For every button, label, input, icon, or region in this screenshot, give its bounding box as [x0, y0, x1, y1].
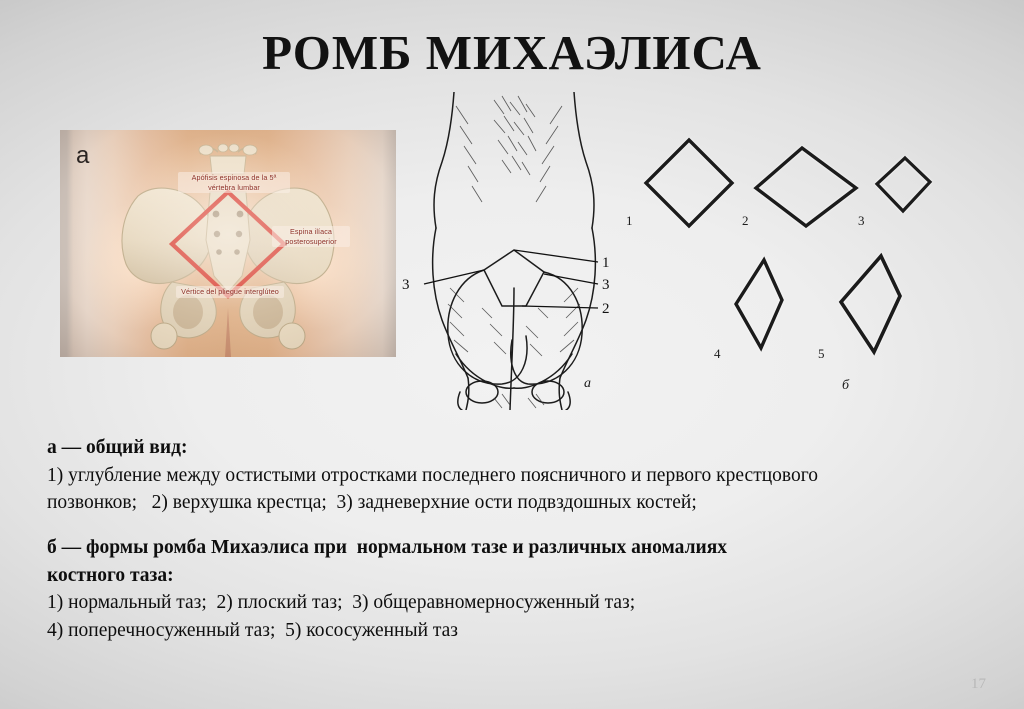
photo-panel-letter: a [76, 142, 89, 170]
label-intergluteal-fold-vertex: Vértice del pliegue interglúteo [176, 286, 284, 298]
rhombus-number-5: 5 [818, 346, 825, 362]
rhombus-forms-figure: 1 2 3 4 5 б [626, 128, 1004, 408]
page-title: РОМБ МИХАЭЛИСА [0, 24, 1024, 81]
line-drawing-figure: 1 3 2 3 а [398, 92, 630, 410]
drawing-callout-3-left: 3 [402, 277, 410, 294]
caption-a-line-1: 1) углубление между остистыми отростками… [47, 462, 977, 490]
drawing-callout-1: 1 [602, 255, 610, 272]
rhombus-shape-1 [640, 134, 738, 232]
drawing-panel-marker: а [584, 376, 591, 392]
rhombus-panel-marker: б [842, 378, 849, 394]
caption-b-heading-line-1: б — формы ромба Михаэлиса при нормальном… [47, 534, 977, 562]
caption-spacer [47, 517, 977, 534]
rhombus-shape-3 [872, 154, 934, 216]
caption-a-heading: а — общий вид: [47, 434, 977, 462]
caption-b-heading-line-2: костного таза: [47, 562, 977, 590]
drawing-callout-2: 2 [602, 301, 610, 318]
rhombus-number-1: 1 [626, 213, 633, 229]
rhombus-shape-5 [834, 252, 912, 360]
rhombus-number-2: 2 [742, 213, 749, 229]
rhombus-number-4: 4 [714, 346, 721, 362]
rhombus-shape-2 [752, 144, 860, 230]
caption-b-line-2: 4) поперечносуженный таз; 5) кососуженны… [47, 617, 977, 645]
page-number: 17 [971, 676, 986, 693]
label-posterior-superior-iliac-spine: Espina ilíaca posterosuperior [272, 226, 350, 247]
slide-root: РОМБ МИХАЭЛИСА [0, 0, 1024, 709]
label-spinous-process: Apófisis espinosa de la 5ª vértebra lumb… [178, 172, 290, 193]
drawing-callout-3-right: 3 [602, 277, 610, 294]
anatomy-photo-figure: a Apófisis espinosa de la 5ª vértebra lu… [60, 130, 396, 357]
rhombus-shape-4 [730, 256, 794, 352]
caption-b-line-1: 1) нормальный таз; 2) плоский таз; 3) об… [47, 589, 977, 617]
back-and-buttocks-line-art [398, 92, 630, 410]
caption-a-line-2: позвонков; 2) верхушка крестца; 3) задне… [47, 489, 977, 517]
rhombus-number-3: 3 [858, 213, 865, 229]
caption-block: а — общий вид: 1) углубление между остис… [47, 434, 977, 645]
